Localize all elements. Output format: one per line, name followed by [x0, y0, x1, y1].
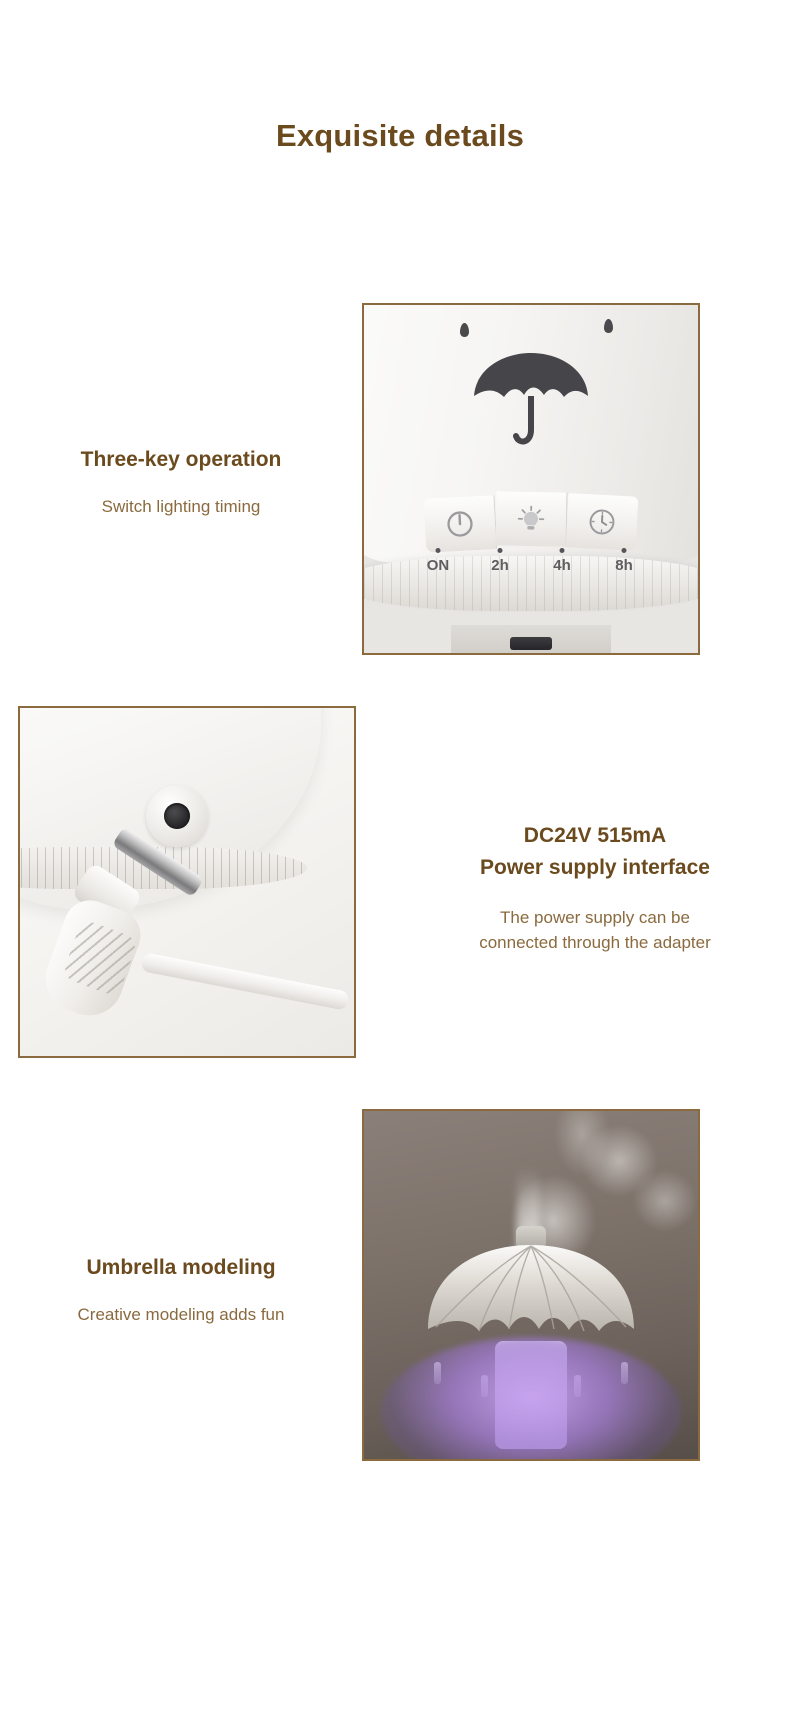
indicator-label-8h: 8h	[602, 557, 646, 574]
water-drop-icon	[604, 319, 613, 333]
section-heading-umbrella-modeling: Umbrella modeling	[0, 1254, 362, 1282]
control-key-strip[interactable]	[425, 493, 637, 547]
indicator-label-on: ON	[416, 557, 460, 574]
section-power-supply-text: DC24V 515mA Power supply interface The p…	[390, 822, 800, 956]
section-body-line-2: connected through the adapter	[390, 930, 800, 956]
water-drop-icon	[460, 323, 469, 337]
indicator-label-4h: 4h	[540, 557, 584, 574]
section-body-line-1: The power supply can be	[390, 905, 800, 931]
base-port	[510, 637, 552, 650]
umbrella-emblem-icon	[466, 350, 596, 450]
light-button[interactable]	[496, 491, 568, 546]
timer-indicator-labels: ON 2h 4h 8h	[416, 557, 646, 574]
clock-timer-icon	[586, 506, 618, 538]
photo-control-panel: ON 2h 4h 8h	[362, 303, 700, 655]
photo-power-interface	[18, 706, 356, 1058]
page-title: Exquisite details	[0, 118, 800, 154]
dc-power-socket	[146, 785, 208, 847]
product-detail-page: Exquisite details Three-key operation Sw…	[0, 0, 800, 1732]
power-button[interactable]	[424, 495, 498, 553]
photo-umbrella-mist	[362, 1109, 700, 1461]
section-subtitle-three-key-operation: Switch lighting timing	[0, 494, 362, 520]
indicator-label-2h: 2h	[478, 557, 522, 574]
light-bulb-icon	[516, 504, 547, 535]
section-heading-power-supply-interface: Power supply interface	[390, 854, 800, 882]
power-icon	[444, 508, 476, 540]
section-heading-three-key-operation: Three-key operation	[0, 446, 362, 474]
socket-hole	[164, 803, 190, 829]
section-heading-dc-rating: DC24V 515mA	[390, 822, 800, 850]
section-umbrella-modeling-text: Umbrella modeling Creative modeling adds…	[0, 1254, 362, 1328]
umbrella-cap	[424, 1243, 638, 1347]
timer-button[interactable]	[566, 493, 639, 551]
section-three-key-operation-text: Three-key operation Switch lighting timi…	[0, 446, 362, 520]
section-subtitle-umbrella-modeling: Creative modeling adds fun	[0, 1302, 362, 1328]
